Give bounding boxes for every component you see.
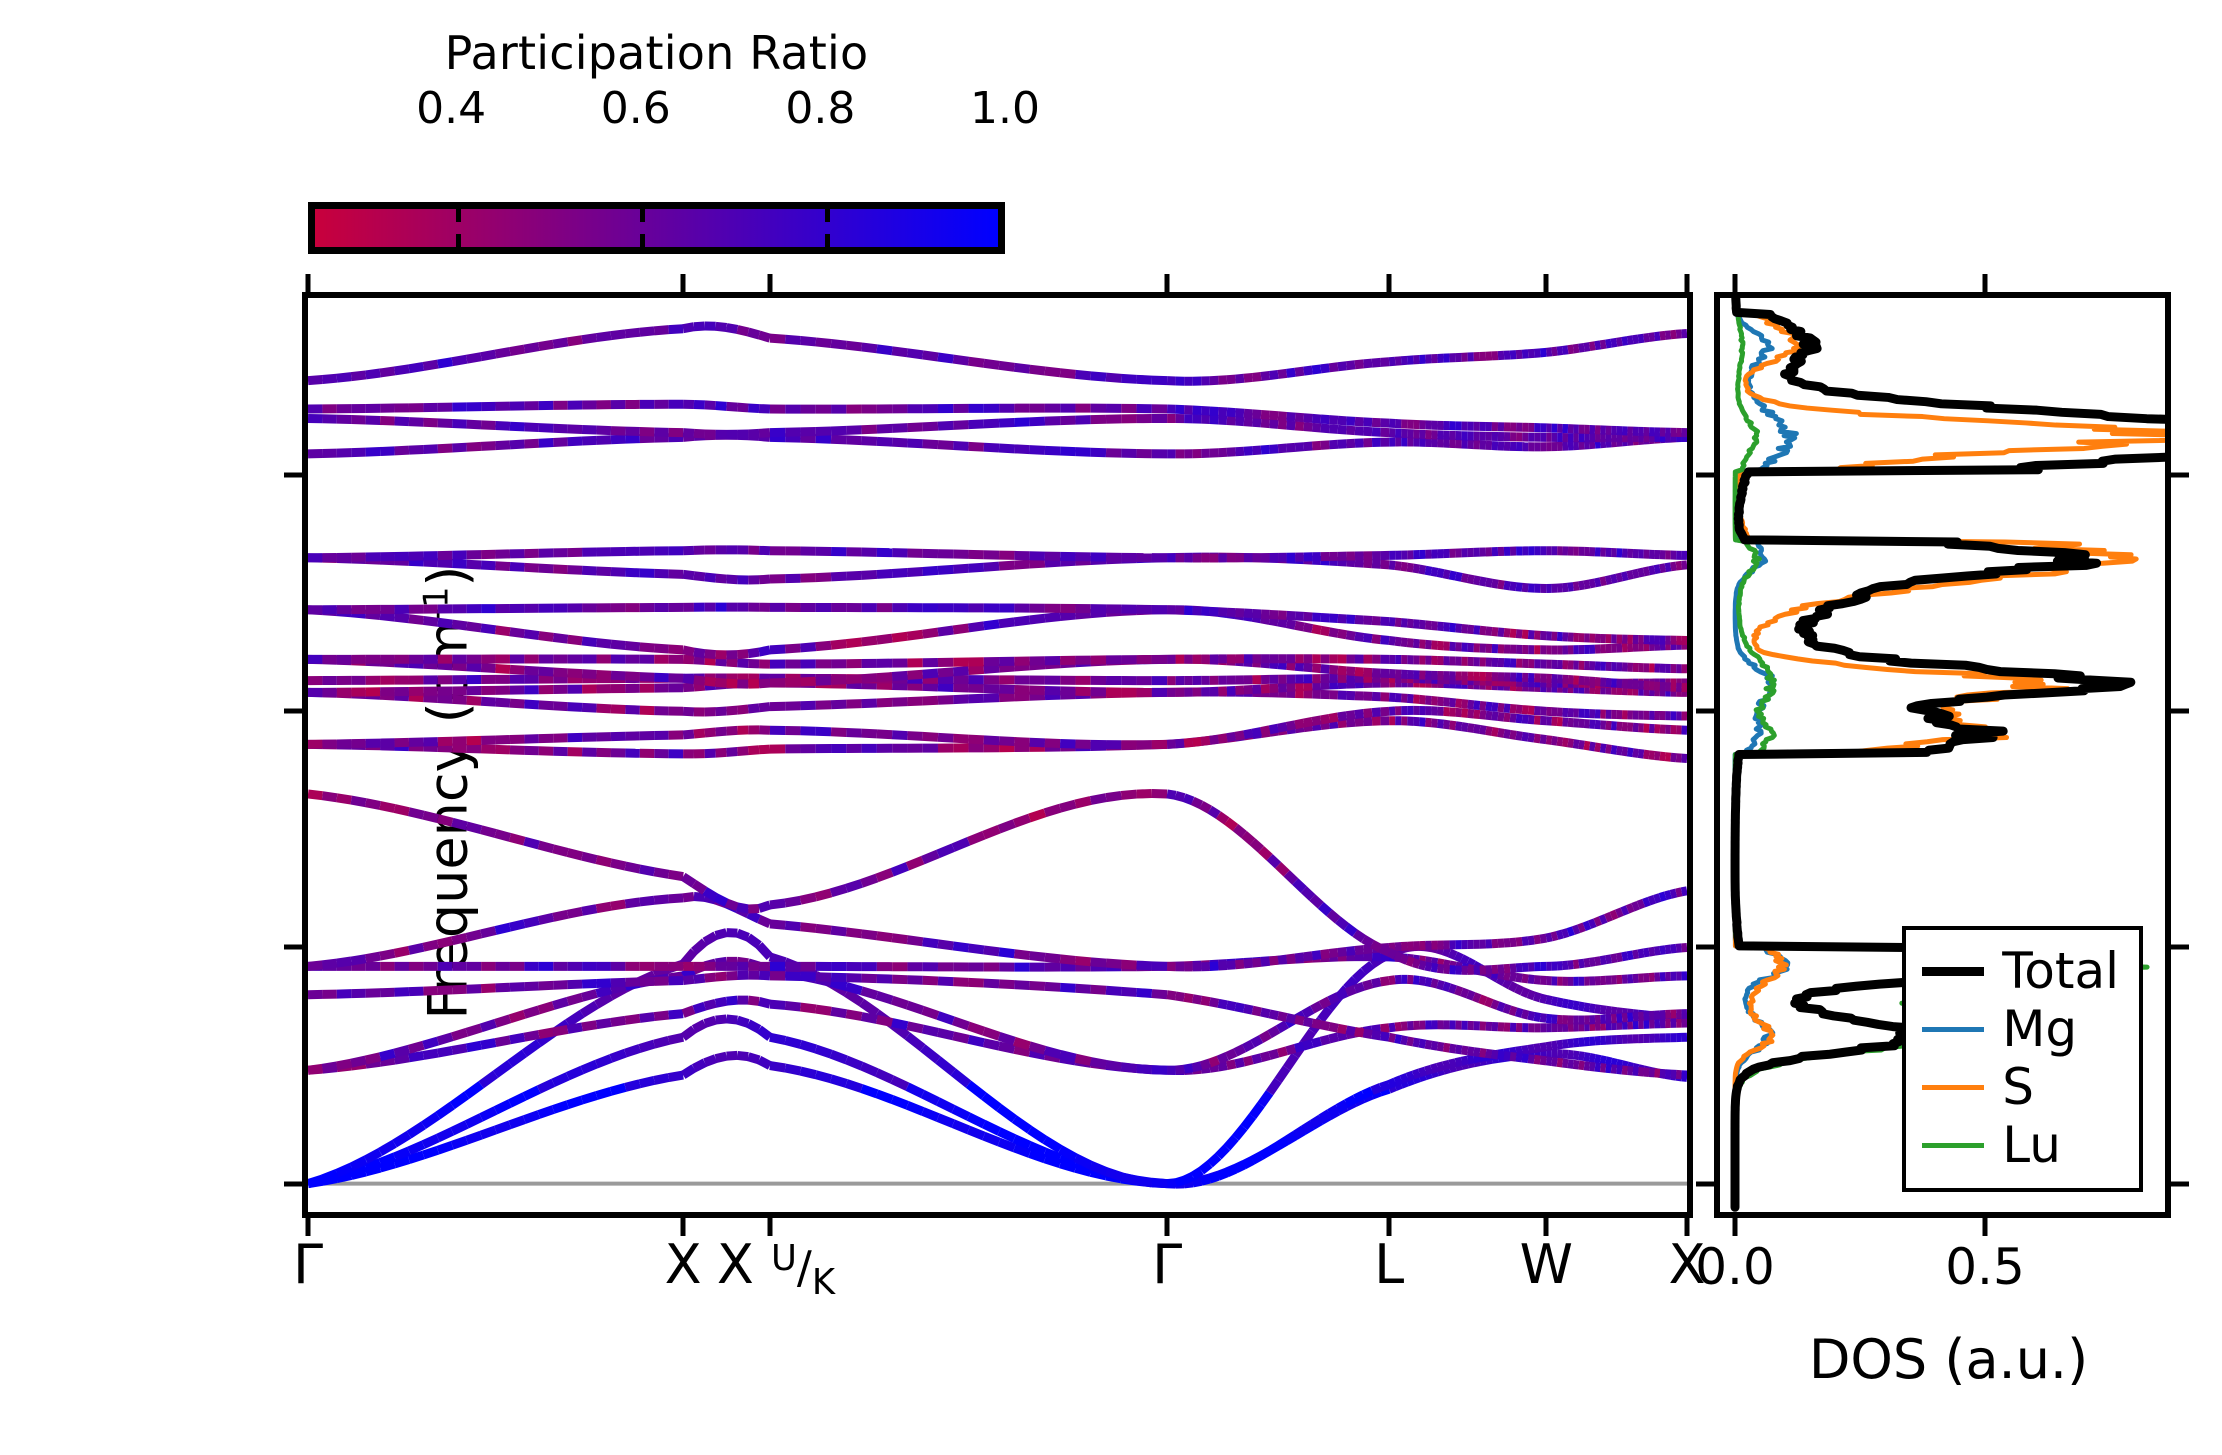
legend-item: S [1922,1058,2119,1116]
x-tick-mark-top [681,274,686,298]
dos-x-tick-mark [1983,274,1988,298]
x-tick-label: X U/K [717,1238,835,1292]
colorbar-tick-mark [640,234,645,247]
x-tick-mark-top [306,274,311,298]
phonon-band [308,891,1687,967]
dos-y-tick-mark [1696,945,1720,950]
colorbar-tick-mark [456,234,461,247]
dos-x-tick-mark [1983,1212,1988,1236]
x-tick-mark-top [1685,274,1690,298]
legend-label: Mg [2002,1004,2077,1054]
dos-y-tick-mark [1696,1181,1720,1186]
colorbar-title: Participation Ratio [308,26,1005,80]
dos-y-tick-mark [2165,1181,2189,1186]
y-tick-mark [284,945,308,950]
legend-color-swatch [1922,1085,1984,1090]
phonon-band [308,557,1687,588]
legend-item: Total [1922,942,2119,1000]
dos-axes: 0.00.5 DOS (a.u.) TotalMgSLu [1714,292,2171,1218]
legend-label: Total [2002,946,2119,996]
x-tick-label-x: X [717,1233,754,1296]
dos-x-tick-label: 0.0 [1695,1238,1775,1296]
x-tick-label: Γ [293,1238,323,1292]
colorbar-tick-mark [825,209,830,222]
x-tick-mark-top [767,274,772,298]
x-tick-label: Γ [1152,1238,1182,1292]
x-tick-label: L [1374,1238,1404,1292]
legend-label: Lu [2002,1120,2061,1170]
colorbar-tick-mark [456,209,461,222]
legend-color-swatch [1922,1027,1984,1032]
phonon-band [308,1054,1687,1184]
x-tick-mark-top [1544,274,1549,298]
colorbar-tick-labels: 0.40.60.81.0 [308,83,1005,133]
legend-item: Mg [1922,1000,2119,1058]
dos-y-tick-mark [2165,945,2189,950]
x-tick-mark-top [1165,274,1170,298]
colorbar-tick-label: 0.6 [601,83,671,134]
colorbar-gradient [315,209,998,247]
colorbar-tick-mark [825,234,830,247]
dos-x-tick-mark [1733,274,1738,298]
dos-y-tick-mark [2165,709,2189,714]
y-tick-mark [284,709,308,714]
band-plot-area [308,298,1687,1212]
phonon-band-dos-figure: Participation Ratio 0.40.60.81.0 Frequen… [0,0,2222,1455]
dos-x-tick-mark [1733,1212,1738,1236]
dos-x-axis-label: DOS (a.u.) [1720,1328,2177,1391]
colorbar-tick-mark [640,209,645,222]
legend-color-swatch [1922,967,1984,976]
phonon-band [308,550,1687,558]
colorbar-tick-label: 0.8 [785,83,855,134]
legend-item: Lu [1922,1116,2119,1174]
dos-y-tick-mark [2165,473,2189,478]
legend-color-swatch [1922,1143,1984,1148]
phonon-band [308,326,1687,381]
dos-x-tick-label: 0.5 [1945,1238,2025,1296]
x-tick-label: W [1520,1238,1573,1292]
dos-legend: TotalMgSLu [1902,926,2143,1192]
band-structure-axes: Frequency (cm-1) 0100200300 ΓXX U/KΓLWX [302,292,1693,1218]
colorbar-tick-label: 0.4 [416,83,486,134]
legend-label: S [2002,1062,2034,1112]
y-tick-mark [284,1181,308,1186]
x-tick-label-uk: U/K [771,1247,835,1291]
dos-y-tick-mark [1696,473,1720,478]
band-curves [308,298,1687,1212]
colorbar-tick-label: 1.0 [970,83,1040,134]
dos-y-tick-mark [1696,709,1720,714]
x-tick-label: X [665,1238,702,1292]
x-tick-mark-top [1387,274,1392,298]
colorbar [308,202,1005,254]
y-tick-mark [284,473,308,478]
